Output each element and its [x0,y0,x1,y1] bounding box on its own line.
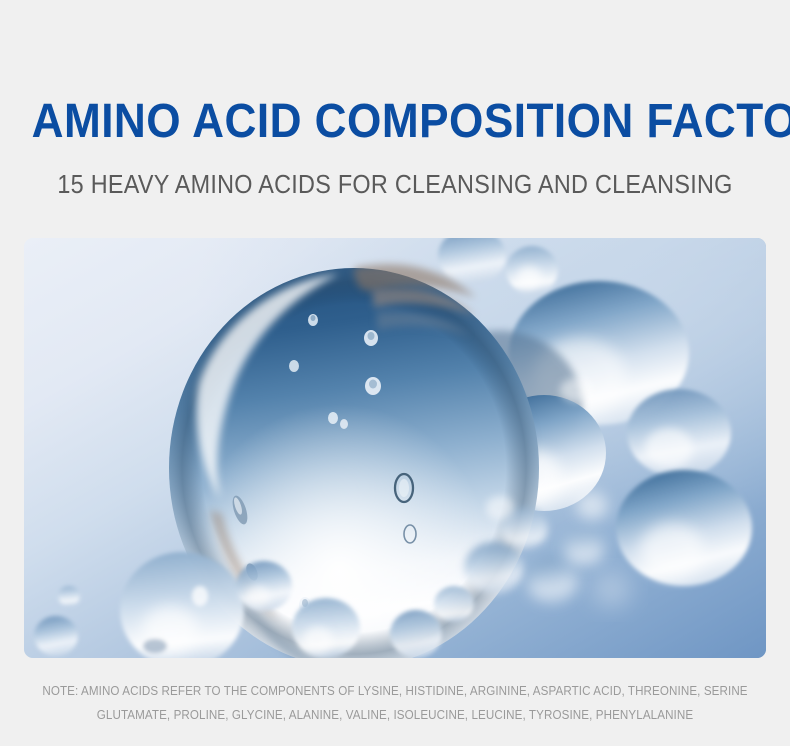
page-subtitle: 15 HEAVY AMINO ACIDS FOR CLEANSING AND C… [40,168,751,200]
footnote: NOTE: AMINO ACIDS REFER TO THE COMPONENT… [28,679,763,727]
footnote-line-1: NOTE: AMINO ACIDS REFER TO THE COMPONENT… [42,684,747,698]
water-droplets-illustration [24,238,766,658]
hero-image [24,238,766,658]
footnote-line-2: GLUTAMATE, PROLINE, GLYCINE, ALANINE, VA… [28,703,763,727]
product-info-panel: AMINO ACID COMPOSITION FACTOR 15 HEAVY A… [0,0,790,746]
page-title: AMINO ACID COMPOSITION FACTOR [32,94,759,150]
